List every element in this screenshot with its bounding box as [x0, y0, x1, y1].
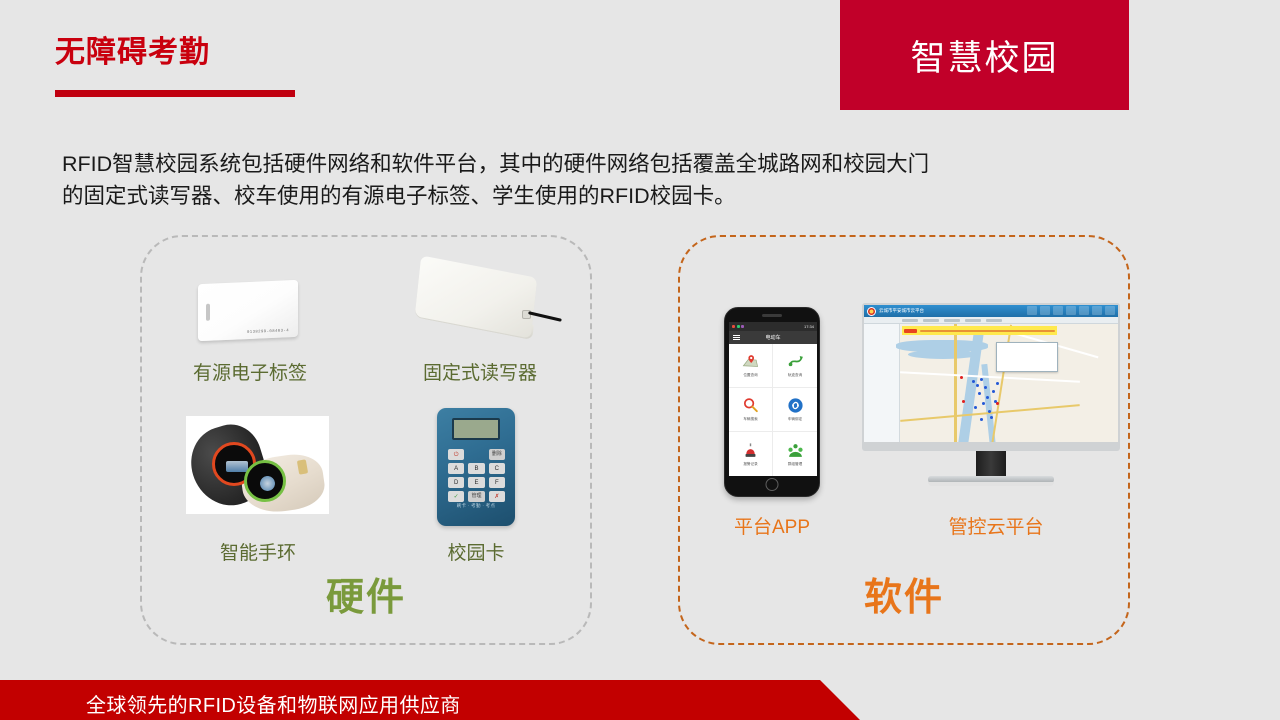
- title-underline-rule: [55, 90, 295, 97]
- group-icon: [787, 442, 804, 459]
- map-pin[interactable]: [990, 416, 993, 419]
- terminal-key-c: C: [489, 463, 505, 474]
- toolbar-item-2[interactable]: [923, 319, 939, 322]
- terminal-key-manage: 管理: [468, 491, 484, 502]
- header-button-1[interactable]: [1027, 306, 1037, 315]
- page-title: 无障碍考勤: [55, 27, 210, 71]
- monitor-bezel: 云城市平安城市云平台: [862, 303, 1120, 451]
- terminal-key-f: F: [489, 477, 505, 488]
- terminal-key-delete: 删除: [489, 449, 505, 460]
- terminal-key-e: E: [468, 477, 484, 488]
- alert-text-line: [920, 330, 1055, 332]
- toolbar-item-5[interactable]: [986, 319, 1002, 322]
- map-pin[interactable]: [976, 384, 979, 387]
- monitor-base-shadow: [928, 482, 1054, 486]
- map-info-popup: [996, 342, 1058, 372]
- rfid-card-slot: [206, 304, 210, 321]
- phone-app-bar: 电动车: [729, 331, 817, 344]
- app-label-search: 车辆搜索: [743, 417, 757, 422]
- alert-badge: [904, 329, 917, 333]
- header-button-3[interactable]: [1053, 306, 1063, 315]
- brand-badge: 智慧校园: [840, 0, 1129, 110]
- phone-home-button[interactable]: [766, 478, 779, 491]
- toolbar-item-4[interactable]: [965, 319, 981, 322]
- status-dot-2: [737, 325, 740, 328]
- caption-fixed-reader: 固定式读写器: [410, 358, 550, 385]
- app-cell-alarm[interactable]: 报警记录: [729, 432, 773, 476]
- terminal-key-spacer: [468, 449, 484, 460]
- terminal-key-cancel: ✗: [489, 491, 505, 502]
- caption-campus-card: 校园卡: [406, 538, 546, 565]
- link-icon: [787, 397, 804, 414]
- reader-body-top: [415, 255, 538, 338]
- terminal-key-d: D: [448, 477, 464, 488]
- hamburger-menu-icon[interactable]: [733, 335, 740, 340]
- intro-line-2: 的固定式读写器、校车使用的有源电子标签、学生使用的RFID校园卡。: [62, 180, 1222, 212]
- fixed-reader-icon: [410, 262, 550, 357]
- intro-line-1: RFID智慧校园系统包括硬件网络和软件平台，其中的硬件网络包括覆盖全城路网和校园…: [62, 152, 929, 176]
- app-label-group: 群组管理: [788, 462, 802, 467]
- alarm-icon: [742, 442, 759, 459]
- header-button-6[interactable]: [1092, 306, 1102, 315]
- campus-card-terminal-icon: ⏻ 删除 A B C D E F ✓ 管理 ✗ 刷卡 · 考勤 · 考点: [437, 408, 515, 526]
- map-water-2: [908, 350, 978, 359]
- map-pin[interactable]: [984, 386, 987, 389]
- app-label-route: 轨迹查询: [788, 373, 802, 378]
- phone-screen: 17:34 电动车 位置查询: [729, 322, 817, 476]
- desktop-monitor-icon: 云城市平安城市云平台: [862, 303, 1120, 498]
- toolbar-item-1[interactable]: [902, 319, 918, 322]
- app-label-bind: 车辆绑定: [788, 417, 802, 422]
- brand-badge-label: 智慧校园: [910, 30, 1058, 81]
- map-road-3: [900, 371, 1080, 382]
- header-button-2[interactable]: [1040, 306, 1050, 315]
- status-dot-3: [741, 325, 744, 328]
- app-cell-bind[interactable]: 车辆绑定: [773, 388, 817, 432]
- footer-slogan: 全球领先的RFID设备和物联网应用供应商: [86, 689, 461, 718]
- header-button-7[interactable]: [1105, 306, 1115, 315]
- search-icon: [742, 397, 759, 414]
- map-pin[interactable]: [978, 392, 981, 395]
- map-pin-alert[interactable]: [996, 402, 999, 405]
- caption-cloud-platform: 管控云平台: [921, 512, 1071, 539]
- app-label-alarm: 报警记录: [743, 462, 757, 467]
- terminal-keypad: ⏻ 删除 A B C D E F ✓ 管理 ✗: [448, 449, 505, 502]
- monitor-neck: [976, 451, 1006, 479]
- app-cell-route[interactable]: 轨迹查询: [773, 344, 817, 388]
- bracelet-dial-light: [244, 460, 286, 502]
- terminal-key-confirm: ✓: [448, 491, 464, 502]
- app-label-location: 位置查询: [743, 373, 757, 378]
- terminal-key-b: B: [468, 463, 484, 474]
- header-button-4[interactable]: [1066, 306, 1076, 315]
- platform-sidebar-tree[interactable]: [864, 324, 900, 442]
- phone-status-bar: 17:34: [729, 322, 817, 331]
- map-pin-alert[interactable]: [962, 400, 965, 403]
- map-pin-alert[interactable]: [960, 376, 963, 379]
- platform-toolbar: [864, 317, 1118, 324]
- map-pin[interactable]: [974, 406, 977, 409]
- terminal-key-power: ⏻: [448, 449, 464, 460]
- map-pin[interactable]: [982, 402, 985, 405]
- software-panel-heading: 软件: [680, 566, 1128, 621]
- platform-header-bar: 云城市平安城市云平台: [864, 305, 1118, 317]
- smartphone-icon: 17:34 电动车 位置查询: [724, 307, 820, 497]
- app-cell-search[interactable]: 车辆搜索: [729, 388, 773, 432]
- map-alert-banner: [902, 326, 1057, 335]
- route-icon: [787, 353, 804, 370]
- map-pin-icon: [742, 353, 759, 370]
- platform-logo-icon: [867, 307, 876, 316]
- terminal-key-a: A: [448, 463, 464, 474]
- phone-status-icons-left: [732, 325, 744, 328]
- map-pin[interactable]: [996, 382, 999, 385]
- platform-title: 云城市平安城市云平台: [879, 308, 924, 314]
- toolbar-item-3[interactable]: [944, 319, 960, 322]
- map-road-1: [954, 324, 957, 442]
- platform-map-area[interactable]: [900, 324, 1118, 442]
- phone-earpiece: [762, 314, 782, 317]
- caption-smart-bracelet: 智能手环: [188, 538, 328, 565]
- footer: 全球领先的RFID设备和物联网应用供应商: [0, 680, 1280, 720]
- phone-app-grid: 位置查询 轨迹查询 车辆搜索: [729, 344, 817, 476]
- platform-body: [864, 324, 1118, 442]
- header-button-5[interactable]: [1079, 306, 1089, 315]
- caption-platform-app: 平台APP: [702, 512, 842, 539]
- phone-status-time: 17:34: [804, 324, 814, 329]
- status-dot-1: [732, 325, 735, 328]
- rfid-card-code: 0138299-08403-4: [247, 329, 289, 335]
- rfid-card-icon: 0138299-08403-4: [198, 280, 298, 341]
- monitor-screen: 云城市平安城市云平台: [864, 305, 1118, 442]
- app-cell-group[interactable]: 群组管理: [773, 432, 817, 476]
- caption-active-tag: 有源电子标签: [180, 358, 320, 385]
- terminal-footer-text: 刷卡 · 考勤 · 考点: [437, 503, 515, 509]
- smart-bracelet-icon: [186, 416, 329, 514]
- intro-paragraph: RFID智慧校园系统包括硬件网络和软件平台，其中的硬件网络包括覆盖全城路网和校园…: [62, 148, 1222, 212]
- hardware-panel-heading: 硬件: [142, 566, 590, 621]
- map-pin[interactable]: [980, 378, 983, 381]
- map-pin[interactable]: [986, 396, 989, 399]
- map-pin[interactable]: [988, 410, 991, 413]
- platform-header-buttons: [1027, 306, 1115, 315]
- map-pin[interactable]: [980, 418, 983, 421]
- map-pin[interactable]: [992, 390, 995, 393]
- slide-root: 无障碍考勤 智慧校园 RFID智慧校园系统包括硬件网络和软件平台，其中的硬件网络…: [0, 0, 1280, 720]
- map-pin[interactable]: [972, 380, 975, 383]
- terminal-lcd-screen: [452, 418, 500, 440]
- phone-app-title: 电动车: [765, 334, 780, 341]
- app-cell-location[interactable]: 位置查询: [729, 344, 773, 388]
